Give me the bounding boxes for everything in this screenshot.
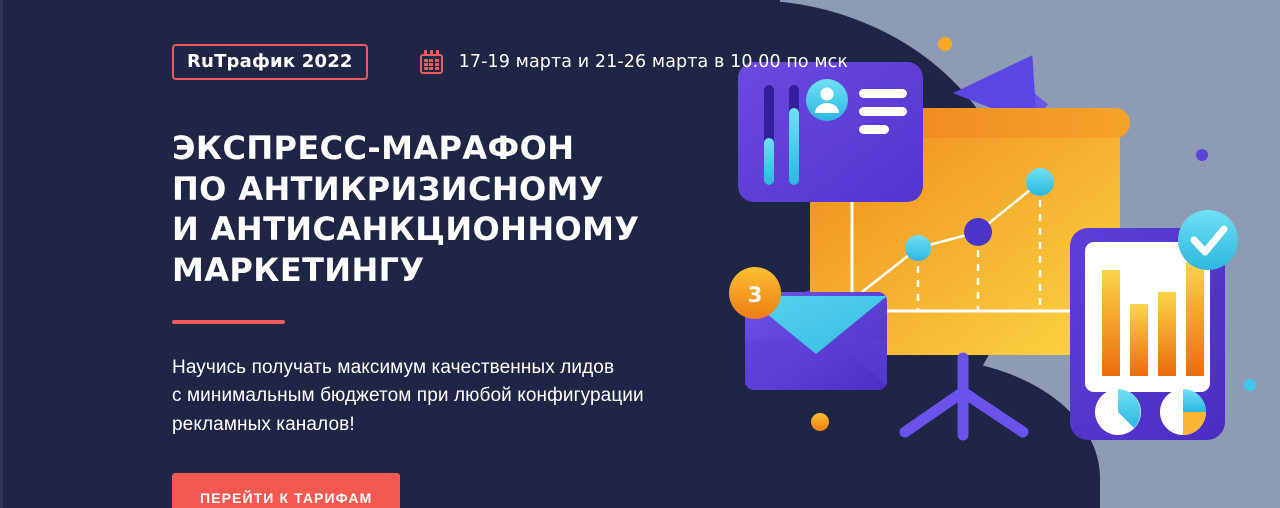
subcopy-line-2: с минимальным бюджетом при любой конфигу… <box>172 385 644 406</box>
left-edge-line <box>0 0 3 508</box>
tripod-stand <box>905 358 1023 435</box>
subcopy-line-3: рекламных каналов! <box>172 414 355 435</box>
headline-line-3: И АНТИСАНКЦИОННОМУ <box>172 210 639 248</box>
calendar-icon <box>420 50 443 74</box>
dot-purple-1 <box>1196 149 1208 161</box>
hero-banner: 3 <box>0 0 1280 508</box>
title-divider <box>172 320 285 324</box>
hero-content: RuТрафик 2022 17-19 марта и 21-26 марта … <box>172 0 792 508</box>
headline-line-4: МАРКЕТИНГУ <box>172 251 425 289</box>
check-badge <box>1178 210 1238 270</box>
logo-badge[interactable]: RuТрафик 2022 <box>172 44 368 80</box>
dot-cyan-2 <box>1244 379 1256 391</box>
hero-subcopy: Научись получать максимум качественных л… <box>172 354 792 440</box>
header-row: RuТрафик 2022 17-19 марта и 21-26 марта … <box>172 44 792 80</box>
go-to-pricing-button[interactable]: ПЕРЕЙТИ К ТАРИФАМ <box>172 473 400 508</box>
headline-line-2: ПО АНТИКРИЗИСНОМУ <box>172 170 604 208</box>
report-device <box>1070 210 1238 440</box>
dot-orange-1 <box>938 37 952 51</box>
dot-orange-2 <box>811 413 829 431</box>
pie-chart-right <box>1160 389 1206 435</box>
pie-chart-left <box>1095 389 1141 435</box>
event-date-text: 17-19 марта и 21-26 марта в 10.00 по мск <box>459 52 848 72</box>
subcopy-line-1: Научись получать максимум качественных л… <box>172 357 614 378</box>
event-date: 17-19 марта и 21-26 марта в 10.00 по мск <box>420 50 848 74</box>
page-title: ЭКСПРЕСС-МАРАФОН ПО АНТИКРИЗИСНОМУ И АНТ… <box>172 128 792 291</box>
headline-line-1: ЭКСПРЕСС-МАРАФОН <box>172 129 574 167</box>
